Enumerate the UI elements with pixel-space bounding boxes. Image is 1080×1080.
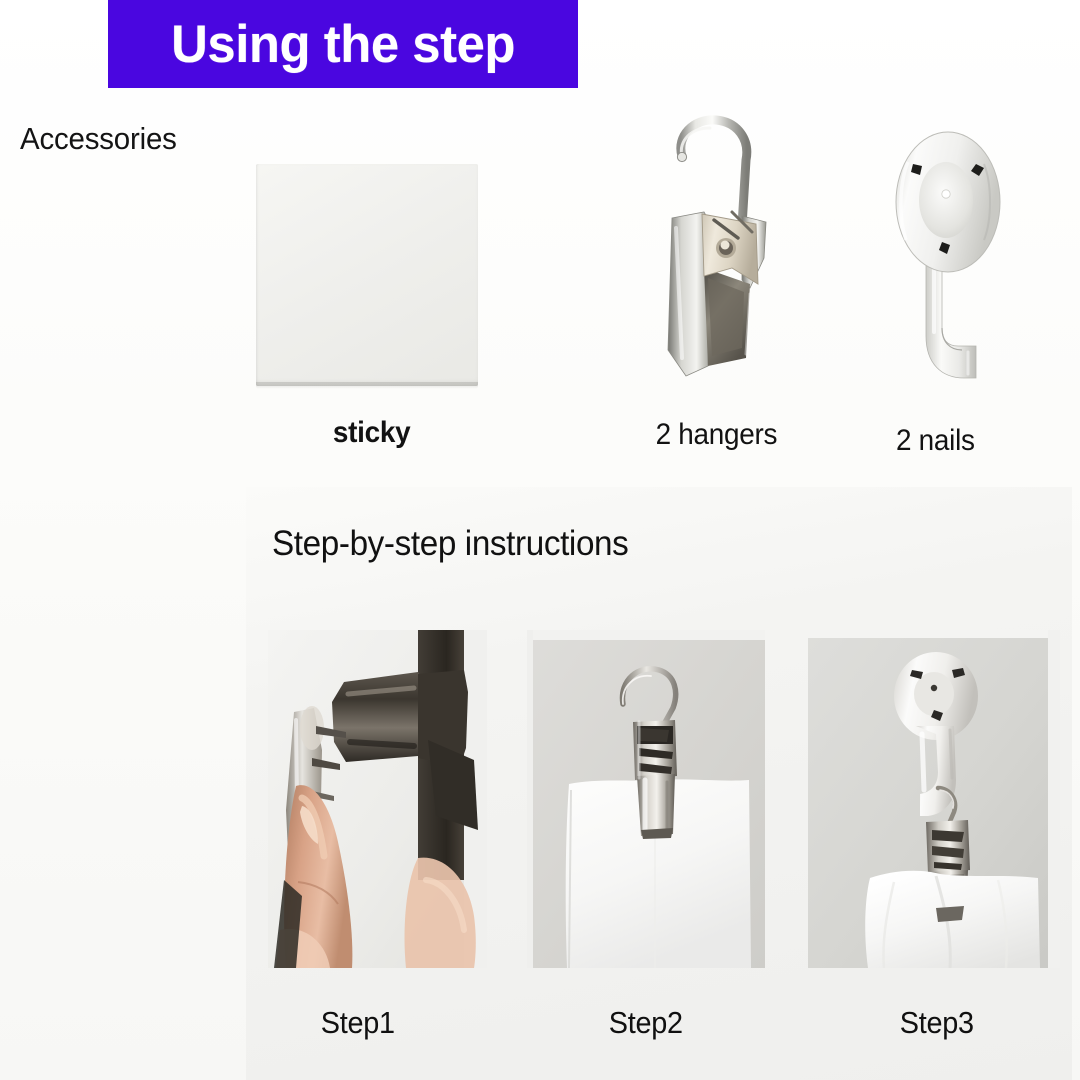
accessory-label-hangers: 2 hangers (656, 418, 778, 452)
adhesive-pad-icon (256, 164, 478, 386)
step-label-1: Step1 (321, 1005, 395, 1041)
accessories-heading: Accessories (20, 121, 177, 157)
page-title: Using the step (171, 18, 515, 71)
step-label-2: Step2 (609, 1005, 683, 1041)
instructions-heading: Step-by-step instructions (272, 524, 628, 564)
wall-hook-icon (880, 128, 1020, 390)
accessory-label-nails: 2 nails (896, 424, 975, 458)
title-banner: Using the step (108, 0, 578, 88)
step-label-3: Step3 (900, 1005, 974, 1041)
infographic-page: Using the step Accessories (0, 0, 1080, 1080)
hook-clip-icon (646, 108, 806, 390)
step-photo-1 (268, 630, 487, 968)
step-photo-2 (527, 630, 765, 968)
step-photo-3 (808, 630, 1060, 968)
accessory-label-sticky: sticky (333, 416, 410, 450)
